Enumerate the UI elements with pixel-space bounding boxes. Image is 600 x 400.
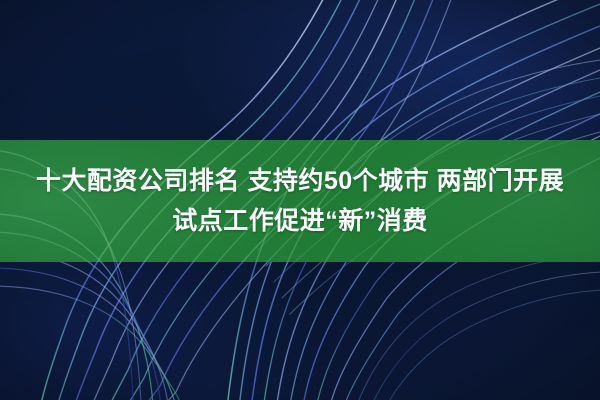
news-banner-image: 十大配资公司排名 支持约50个城市 两部门开展 试点工作促进“新”消费 — [0, 0, 600, 400]
headline-line-1: 十大配资公司排名 支持约50个城市 两部门开展 — [36, 162, 564, 200]
headline-text-block: 十大配资公司排名 支持约50个城市 两部门开展 试点工作促进“新”消费 — [0, 140, 600, 262]
headline-line-2: 试点工作促进“新”消费 — [172, 202, 428, 240]
